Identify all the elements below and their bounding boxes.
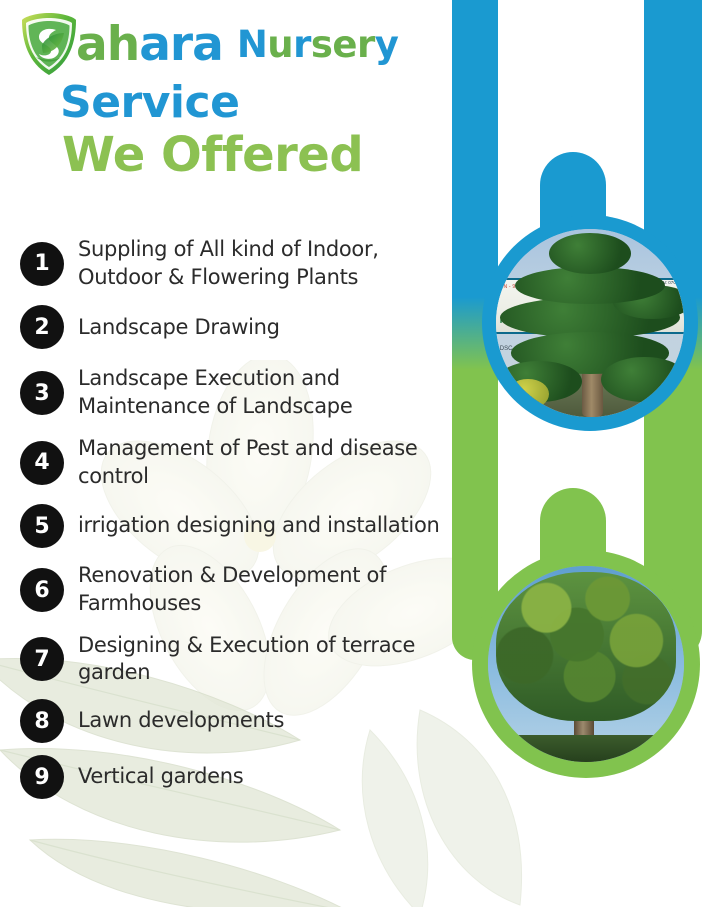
service-number-badge: 8 [20,699,64,743]
photo-tree-canopy [496,572,676,721]
service-number-badge: 2 [20,305,64,349]
topiary-tree-photo: N - 9810682302 GSTIN: 07C RS Khan In DSC [496,229,684,417]
service-label: irrigation designing and installation [78,512,440,540]
photo-yellow-shrub [507,379,548,409]
service-label: Landscape Drawing [78,314,280,342]
service-label: Management of Pest and disease control [78,435,450,490]
service-item-3[interactable]: 3 Landscape Execution and Maintenance of… [20,365,450,420]
right-decorative-column: N - 9810682302 GSTIN: 07C RS Khan In DSC [442,0,722,907]
topiary-tier-6 [601,357,684,402]
service-number-badge: 7 [20,637,64,681]
shield-leaf-logo-icon [18,11,80,77]
brand-name-sahara: ahara [76,21,223,68]
brand-title-row: ahara Nursery [18,10,458,78]
headline-block: ahara Nursery Service We Offered [18,10,458,181]
service-item-1[interactable]: 1 Suppling of All kind of Indoor, Outdoo… [20,236,450,291]
service-label: Vertical gardens [78,763,243,791]
service-number-badge: 5 [20,504,64,548]
photo-medallion-top: N - 9810682302 GSTIN: 07C RS Khan In DSC [482,215,698,431]
service-number-badge: 3 [20,371,64,415]
service-item-9[interactable]: 9 Vertical gardens [20,755,450,799]
service-item-5[interactable]: 5 irrigation designing and installation [20,504,450,548]
service-item-8[interactable]: 8 Lawn developments [20,699,450,743]
service-label: Designing & Execution of terrace garden [78,632,450,687]
service-label: Landscape Execution and Maintenance of L… [78,365,450,420]
service-number-badge: 4 [20,441,64,485]
headline-we-offered: We Offered [62,130,458,180]
services-list: 1 Suppling of All kind of Indoor, Outdoo… [20,236,450,811]
photo-tree-ground [488,735,684,762]
service-label: Renovation & Development of Farmhouses [78,562,450,617]
photo-medallion-bottom [472,550,700,778]
brand-name-nursery: Nursery [237,26,399,63]
service-item-6[interactable]: 6 Renovation & Development of Farmhouses [20,562,450,617]
service-label: Lawn developments [78,707,284,735]
large-tree-photo [488,566,684,762]
service-item-4[interactable]: 4 Management of Pest and disease control [20,435,450,490]
service-item-7[interactable]: 7 Designing & Execution of terrace garde… [20,632,450,687]
topiary-tier-1 [549,233,632,274]
poster-canvas: N - 9810682302 GSTIN: 07C RS Khan In DSC [0,0,722,907]
service-number-badge: 1 [20,242,64,286]
service-label: Suppling of All kind of Indoor, Outdoor … [78,236,450,291]
service-number-badge: 9 [20,755,64,799]
service-item-2[interactable]: 2 Landscape Drawing [20,305,450,349]
headline-service: Service [60,80,458,126]
service-number-badge: 6 [20,568,64,612]
